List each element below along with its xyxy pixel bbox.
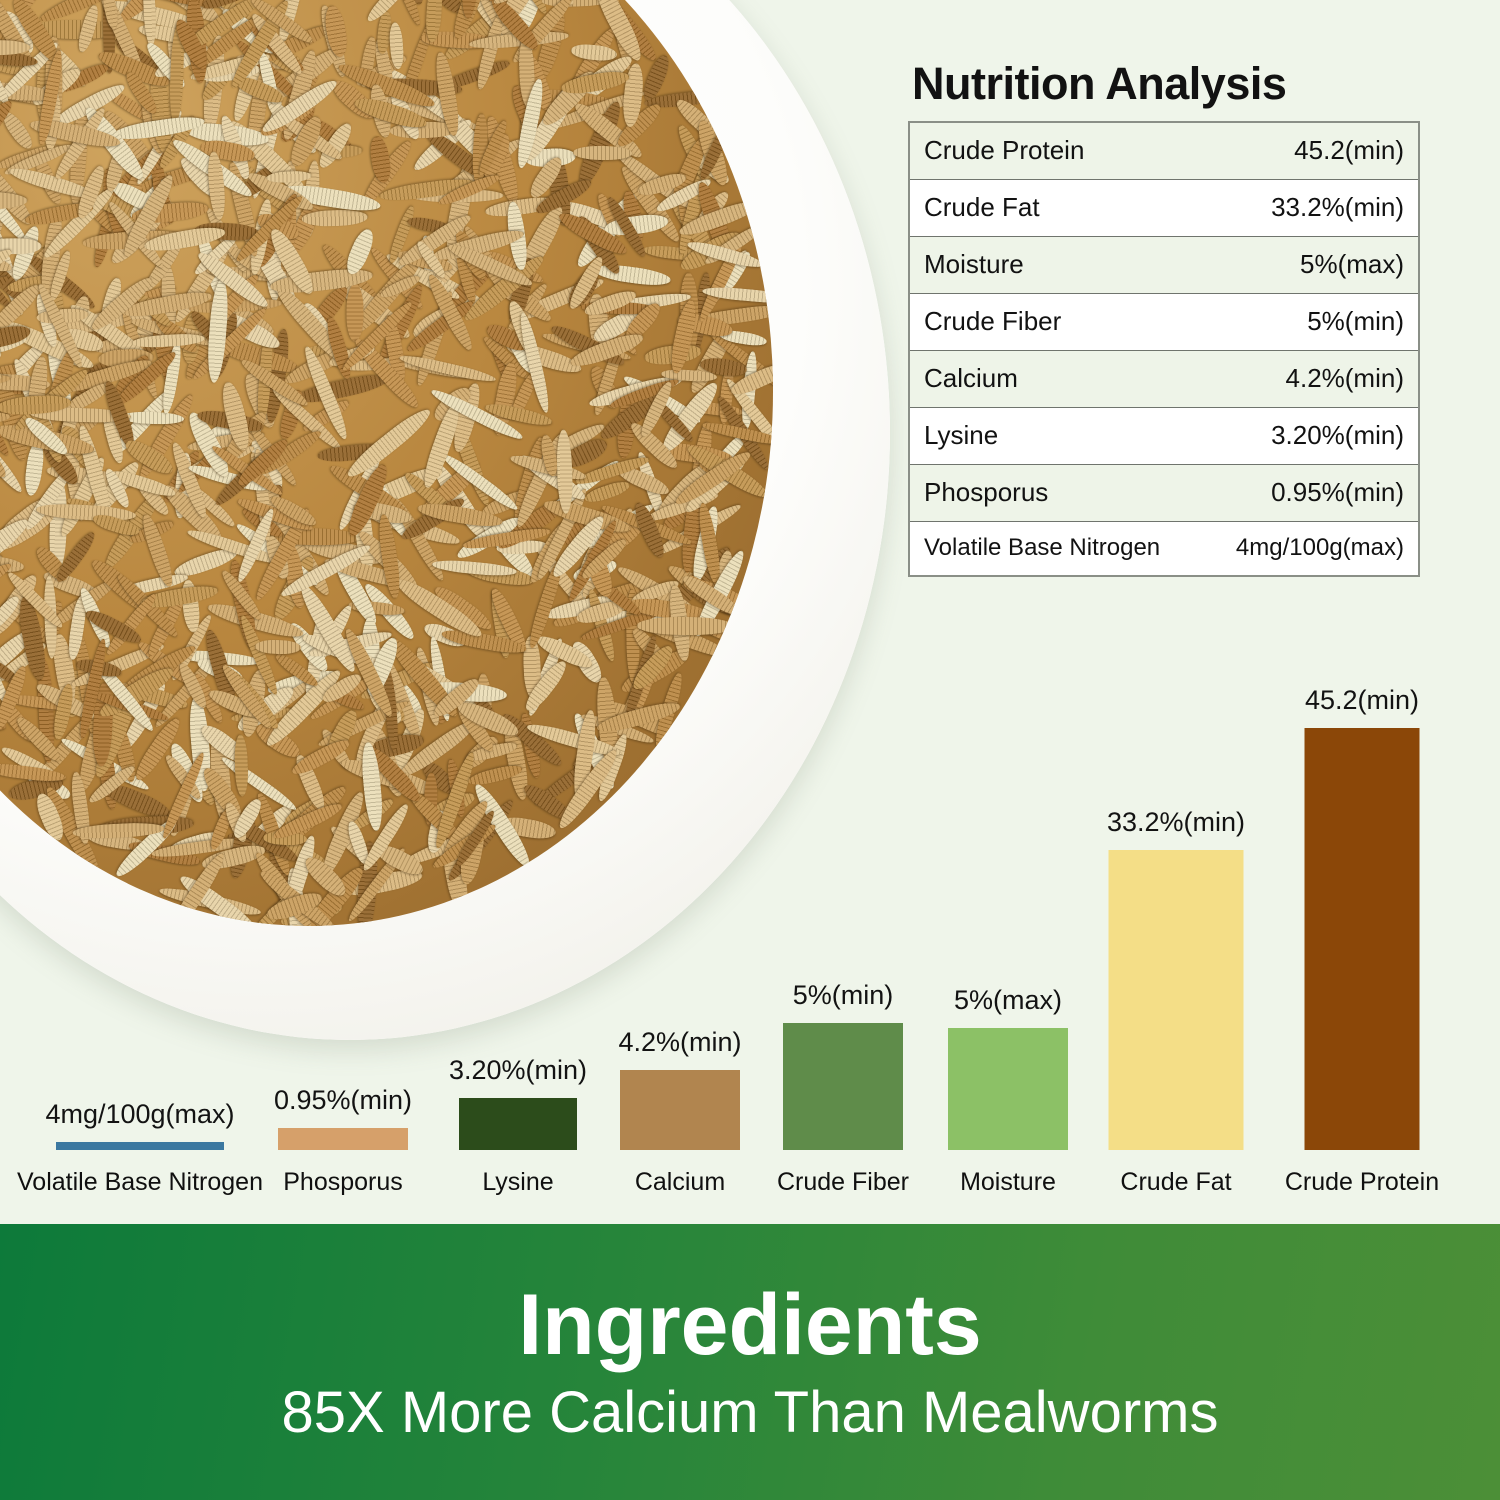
bar-value-label: 3.20%(min) bbox=[449, 1057, 587, 1084]
nutrient-value: 45.2(min) bbox=[1202, 122, 1419, 180]
bar-category-label: Lysine bbox=[482, 1170, 553, 1195]
bar-category-label: Calcium bbox=[635, 1170, 725, 1195]
nutrition-bar-chart: 4mg/100g(max)Volatile Base Nitrogen0.95%… bbox=[0, 660, 1500, 1223]
bar-rect bbox=[1109, 850, 1244, 1150]
bar-value-label: 4mg/100g(max) bbox=[45, 1101, 234, 1128]
bar-group: 4mg/100g(max)Volatile Base Nitrogen bbox=[30, 660, 250, 1223]
banner-title: Ingredients bbox=[518, 1282, 982, 1368]
table-row: Volatile Base Nitrogen4mg/100g(max) bbox=[909, 522, 1419, 577]
table-row: Phosporus0.95%(min) bbox=[909, 465, 1419, 522]
bar-category-label: Phosporus bbox=[283, 1170, 403, 1195]
table-row: Crude Fiber5%(min) bbox=[909, 294, 1419, 351]
nutrient-value: 33.2%(min) bbox=[1202, 180, 1419, 237]
bar-category-label: Crude Fat bbox=[1120, 1170, 1231, 1195]
table-row: Crude Fat33.2%(min) bbox=[909, 180, 1419, 237]
table-row: Crude Protein45.2(min) bbox=[909, 122, 1419, 180]
bar-rect bbox=[948, 1028, 1068, 1150]
nutrient-value: 4.2%(min) bbox=[1202, 351, 1419, 408]
nutrient-name: Calcium bbox=[909, 351, 1202, 408]
nutrient-value: 5%(max) bbox=[1202, 237, 1419, 294]
bar-rect bbox=[1305, 728, 1420, 1150]
nutrition-analysis-title: Nutrition Analysis bbox=[912, 60, 1420, 107]
bar-value-label: 33.2%(min) bbox=[1107, 809, 1245, 836]
bar-rect bbox=[459, 1098, 577, 1150]
bar-value-label: 45.2(min) bbox=[1305, 687, 1419, 714]
ingredients-banner: Ingredients 85X More Calcium Than Mealwo… bbox=[0, 1224, 1500, 1500]
bar-category-label: Crude Protein bbox=[1285, 1170, 1439, 1195]
nutrient-name: Crude Protein bbox=[909, 122, 1202, 180]
table-row: Calcium4.2%(min) bbox=[909, 351, 1419, 408]
nutrient-name: Crude Fiber bbox=[909, 294, 1202, 351]
bar-value-label: 5%(max) bbox=[954, 987, 1062, 1014]
nutrition-analysis-panel: Nutrition Analysis Crude Protein45.2(min… bbox=[908, 60, 1420, 577]
bar-rect bbox=[56, 1142, 224, 1150]
bar-value-label: 5%(min) bbox=[793, 982, 894, 1009]
bar-rect bbox=[278, 1128, 408, 1150]
nutrition-analysis-table: Crude Protein45.2(min)Crude Fat33.2%(min… bbox=[908, 121, 1420, 577]
bar-group: 45.2(min)Crude Protein bbox=[1252, 660, 1472, 1223]
bar-value-label: 4.2%(min) bbox=[618, 1029, 741, 1056]
nutrient-value: 0.95%(min) bbox=[1202, 465, 1419, 522]
table-row: Lysine3.20%(min) bbox=[909, 408, 1419, 465]
bar-rect bbox=[783, 1023, 903, 1150]
nutrient-name: Crude Fat bbox=[909, 180, 1202, 237]
nutrient-name: Lysine bbox=[909, 408, 1202, 465]
nutrient-name: Phosporus bbox=[909, 465, 1202, 522]
bar-value-label: 0.95%(min) bbox=[274, 1087, 412, 1114]
bar-rect bbox=[620, 1070, 740, 1150]
nutrient-name: Volatile Base Nitrogen bbox=[909, 522, 1202, 577]
nutrient-value: 3.20%(min) bbox=[1202, 408, 1419, 465]
nutrient-name: Moisture bbox=[909, 237, 1202, 294]
nutrient-value: 4mg/100g(max) bbox=[1202, 522, 1419, 577]
nutrient-value: 5%(min) bbox=[1202, 294, 1419, 351]
infographic-page: Nutrition Analysis Crude Protein45.2(min… bbox=[0, 0, 1500, 1500]
banner-subtitle: 85X More Calcium Than Mealworms bbox=[282, 1384, 1219, 1442]
table-row: Moisture5%(max) bbox=[909, 237, 1419, 294]
bar-category-label: Moisture bbox=[960, 1170, 1056, 1195]
bar-category-label: Volatile Base Nitrogen bbox=[17, 1170, 263, 1195]
bar-category-label: Crude Fiber bbox=[777, 1170, 909, 1195]
